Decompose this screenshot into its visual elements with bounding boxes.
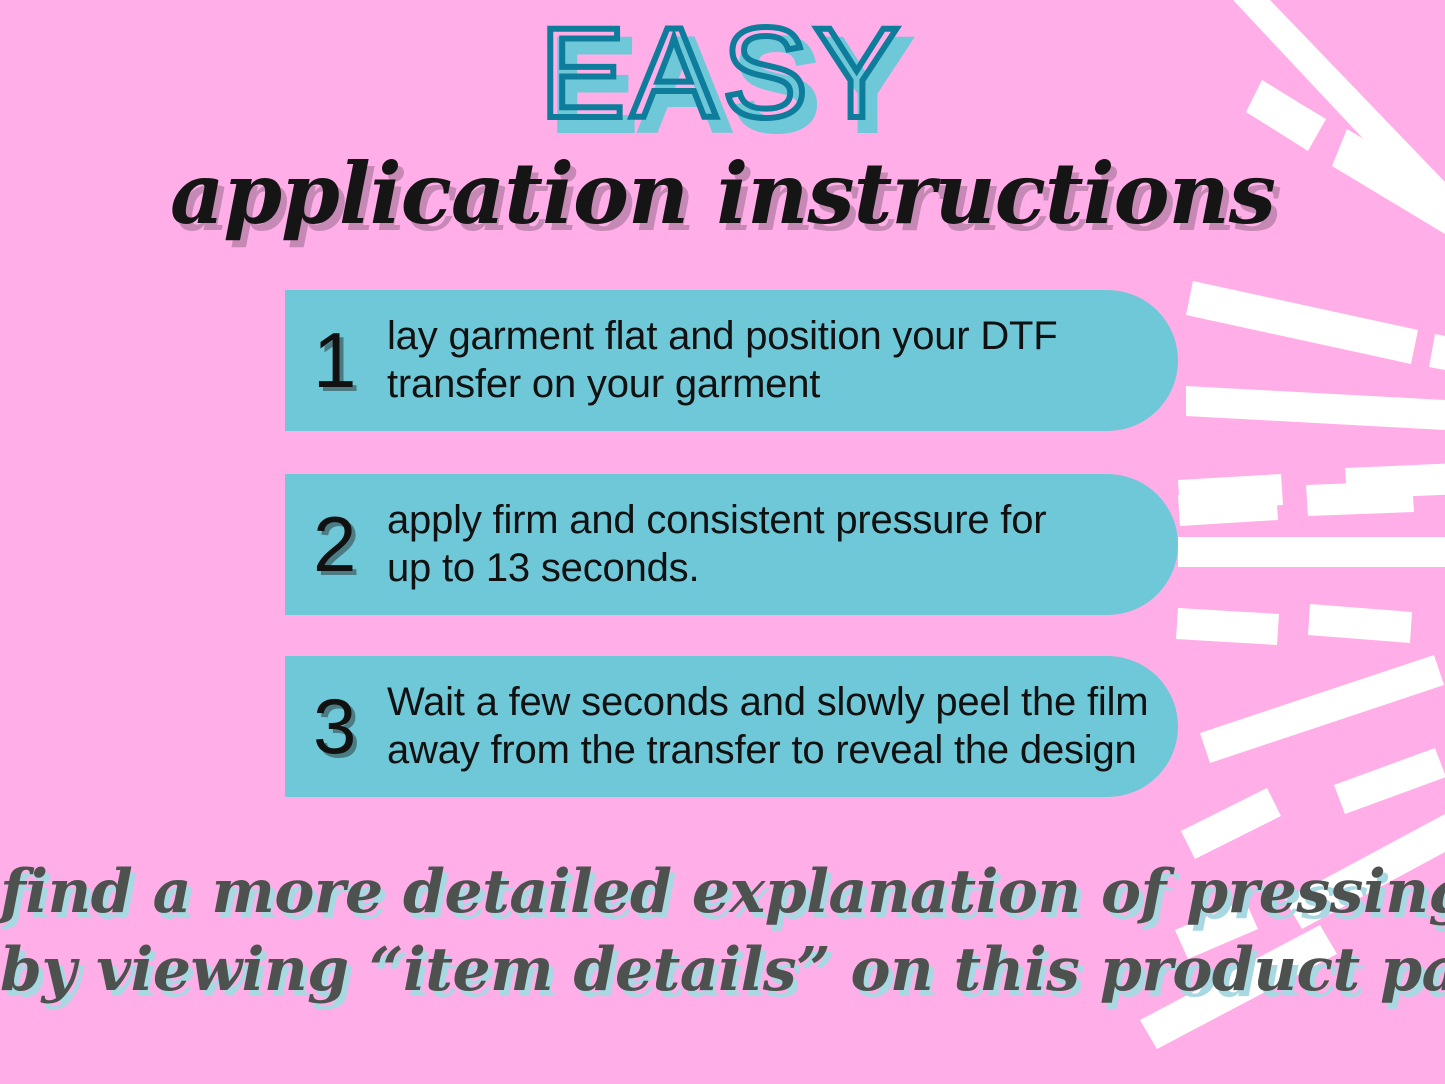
ray-dash: [1176, 608, 1279, 645]
step-number-3: 3: [313, 691, 387, 761]
ray-dash: [1186, 281, 1418, 364]
step-text-1: lay garment flat and position your DTF t…: [387, 313, 1058, 407]
footer-line-2: by viewing “item details” on this produc…: [0, 940, 1445, 1000]
step-text-3: Wait a few seconds and slowly peel the f…: [387, 679, 1148, 773]
step-pill-2: 2 apply firm and consistent pressure for…: [285, 474, 1178, 615]
step-text-line: transfer on your garment: [387, 361, 1058, 408]
ray-dash: [1306, 481, 1414, 516]
ray-dash: [1308, 604, 1412, 643]
ray-dash: [1181, 788, 1281, 859]
step-number-1: 1: [313, 325, 387, 395]
ray-dash: [1178, 537, 1445, 567]
step-text-line: up to 13 seconds.: [387, 545, 1046, 592]
ray-dash: [1186, 386, 1445, 430]
step-text-line: Wait a few seconds and slowly peel the f…: [387, 679, 1148, 726]
ray-dash: [1200, 655, 1444, 763]
headline-easy: EASY: [0, 10, 1445, 138]
footer-line-1: find a more detailed explanation of pres…: [0, 862, 1445, 922]
ray-dash: [1429, 334, 1445, 370]
ray-dash: [1178, 474, 1283, 511]
instructions-poster: EASY EASY application instructions 1 lay…: [0, 0, 1445, 1084]
headline-application-instructions: application instructions: [0, 152, 1445, 236]
step-text-2: apply firm and consistent pressure for u…: [387, 497, 1046, 591]
step-text-line: away from the transfer to reveal the des…: [387, 727, 1148, 774]
step-pill-3: 3 Wait a few seconds and slowly peel the…: [285, 656, 1178, 797]
step-text-line: lay garment flat and position your DTF: [387, 313, 1058, 360]
ray-dash: [1345, 463, 1445, 499]
ray-dash: [1334, 748, 1445, 814]
ray-dash: [1178, 489, 1278, 526]
step-number-2: 2: [313, 509, 387, 579]
step-pill-1: 1 lay garment flat and position your DTF…: [285, 290, 1178, 431]
step-text-line: apply firm and consistent pressure for: [387, 497, 1046, 544]
